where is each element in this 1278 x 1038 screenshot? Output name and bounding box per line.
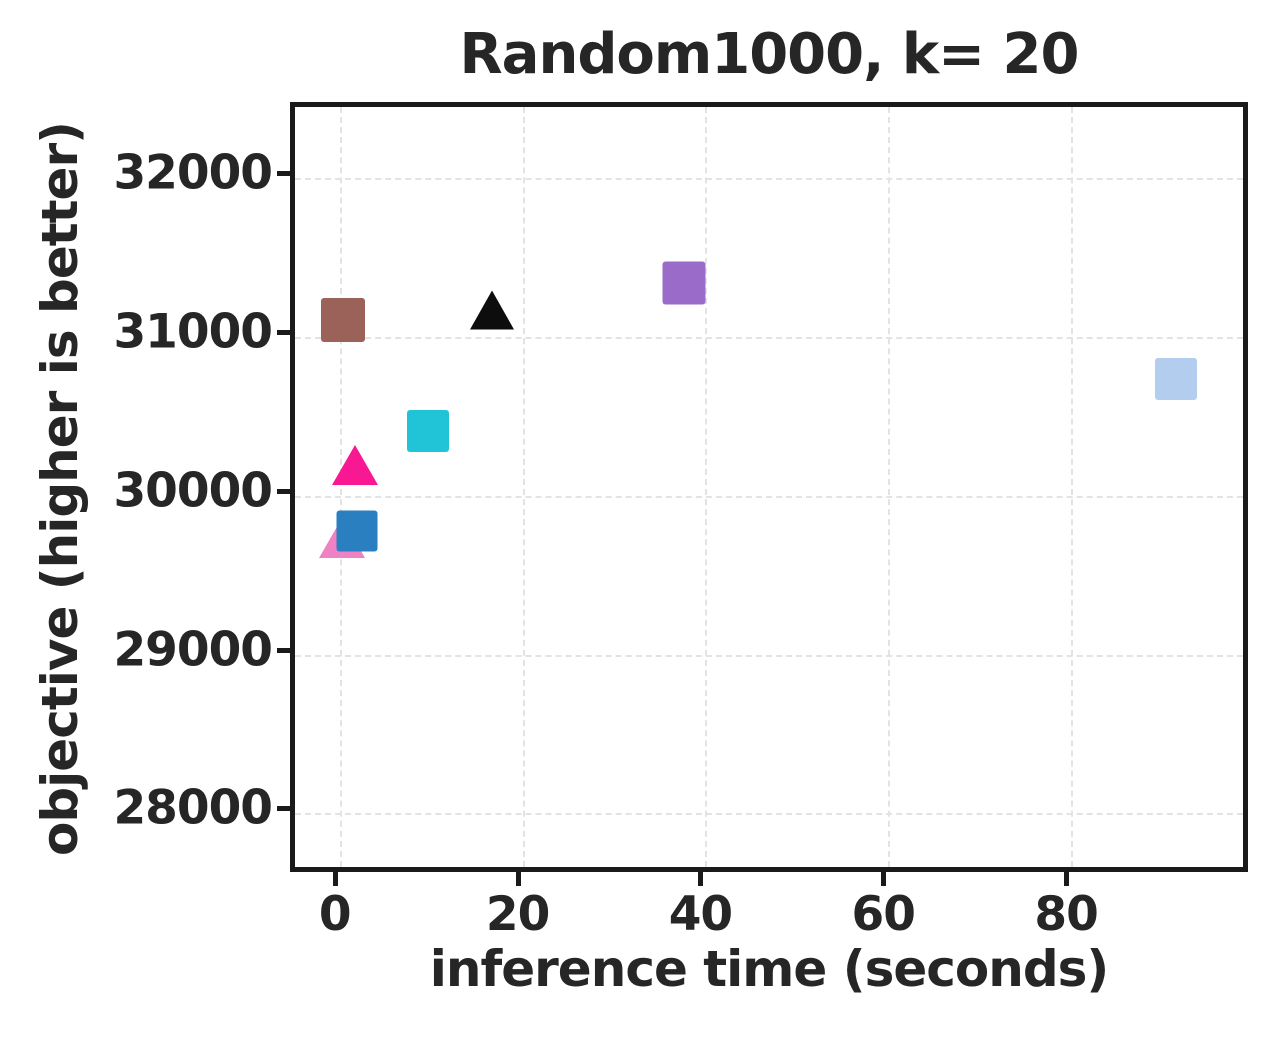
y-tick-mark-28000 <box>277 806 291 811</box>
purple-square-point <box>662 261 705 304</box>
x-axis-label: inference time (seconds) <box>290 940 1248 998</box>
gridline-vertical-20 <box>523 107 525 867</box>
x-tick-label-40: 40 <box>669 887 732 942</box>
gridline-vertical-60 <box>888 107 890 867</box>
magenta-triangle-point <box>332 445 378 485</box>
y-tick-label-28000: 28000 <box>113 781 272 836</box>
x-tick-mark-80 <box>1064 872 1069 886</box>
y-tick-mark-30000 <box>277 489 291 494</box>
x-tick-label-20: 20 <box>486 887 549 942</box>
gridline-horizontal-31000 <box>295 337 1243 339</box>
y-tick-label-32000: 32000 <box>113 146 272 201</box>
lightblue-square-point <box>1155 358 1197 400</box>
x-tick-mark-60 <box>881 872 886 886</box>
y-tick-label-29000: 29000 <box>113 622 272 677</box>
y-tick-label-30000: 30000 <box>113 463 272 518</box>
gridline-horizontal-28000 <box>295 813 1243 815</box>
y-tick-mark-31000 <box>277 330 291 335</box>
x-tick-mark-0 <box>333 872 338 886</box>
gridline-vertical-80 <box>1071 107 1073 867</box>
x-tick-label-80: 80 <box>1034 887 1097 942</box>
x-tick-label-0: 0 <box>319 887 351 942</box>
x-tick-label-60: 60 <box>852 887 915 942</box>
gridline-horizontal-30000 <box>295 496 1243 498</box>
y-tick-label-31000: 31000 <box>113 305 272 360</box>
gridline-vertical-0 <box>340 107 342 867</box>
y-tick-mark-32000 <box>277 171 291 176</box>
blue-square-point <box>337 511 378 552</box>
cyan-square-point <box>407 410 449 452</box>
scatter-plot-figure: Random1000, k= 20 2800029000300003100032… <box>0 0 1278 1038</box>
gridline-vertical-40 <box>705 107 707 867</box>
gridline-horizontal-29000 <box>295 655 1243 657</box>
gridline-horizontal-32000 <box>295 178 1243 180</box>
brown-square-point <box>321 298 365 342</box>
x-tick-mark-20 <box>516 872 521 886</box>
plot-area <box>290 102 1248 872</box>
y-tick-mark-29000 <box>277 648 291 653</box>
y-axis-label: objective (higher is better) <box>31 79 89 899</box>
black-triangle-point <box>470 290 514 329</box>
chart-title: Random1000, k= 20 <box>290 22 1248 87</box>
x-tick-mark-40 <box>698 872 703 886</box>
